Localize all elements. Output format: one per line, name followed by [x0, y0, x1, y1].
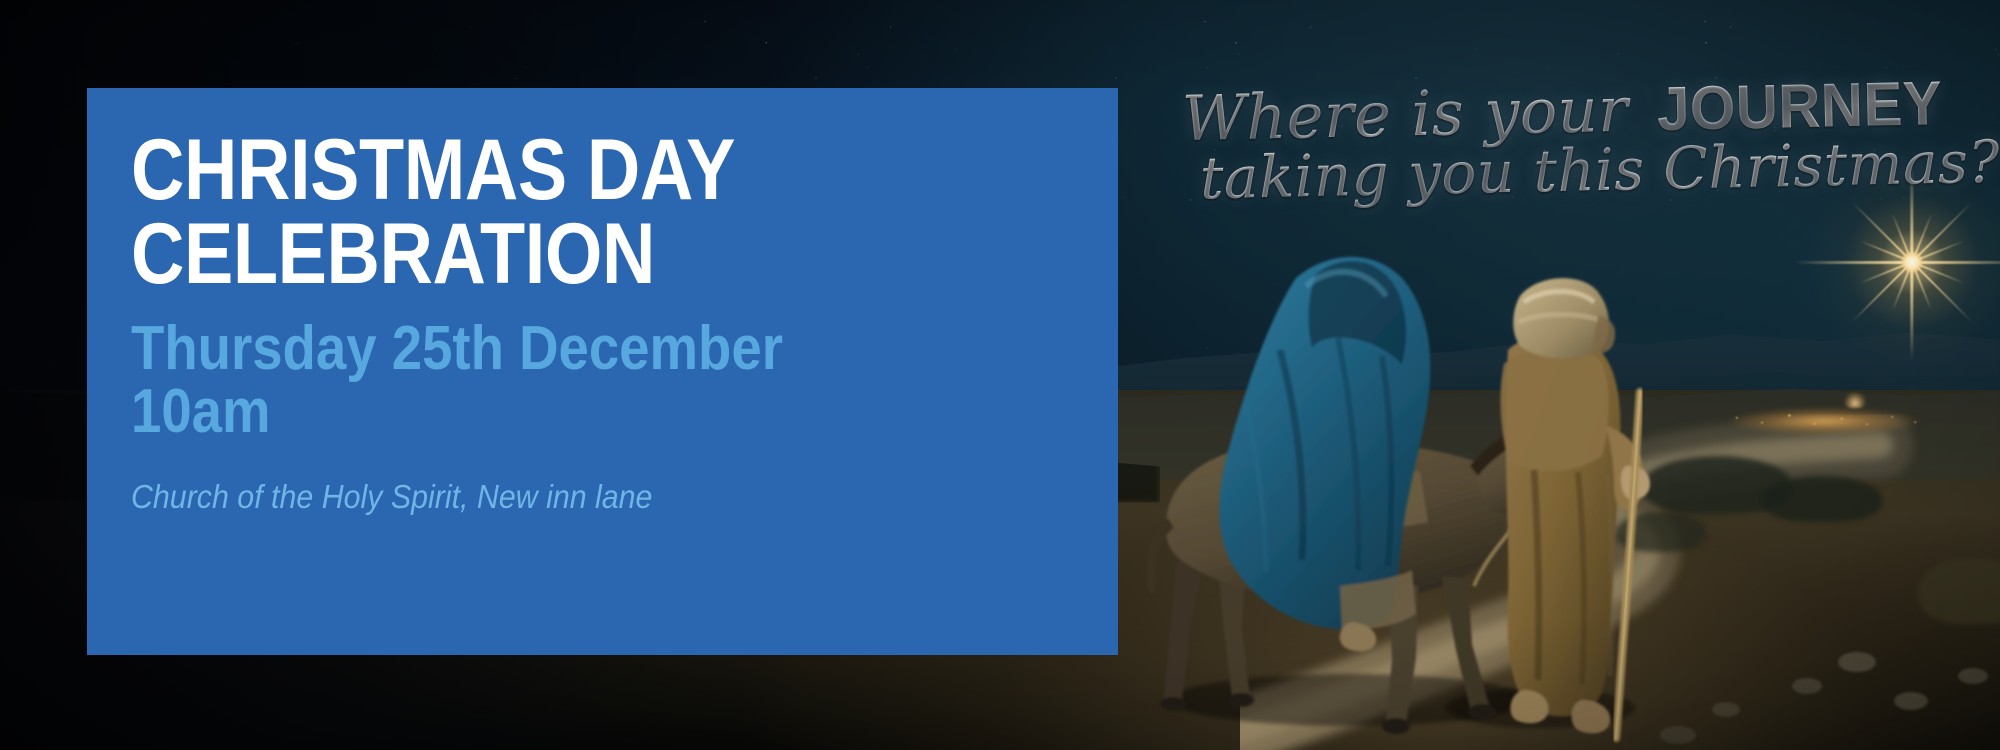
town-spire — [1844, 392, 1866, 409]
event-date-time: Thursday 25th December 10am — [131, 317, 1000, 443]
event-venue: Church of the Holy Spirit, New inn lane — [131, 477, 1039, 517]
stone — [1894, 692, 1928, 710]
town-lights — [1720, 409, 1930, 432]
stone — [1712, 702, 1740, 717]
joseph-figure — [1501, 278, 1650, 733]
stone — [1958, 668, 1988, 684]
mary-joseph-donkey-illustration — [1120, 230, 1680, 750]
stone — [1838, 652, 1876, 672]
mary-figure — [1220, 257, 1431, 652]
christmas-banner: CHRISTMAS DAY CELEBRATION Thursday 25th … — [0, 0, 2000, 750]
stone — [1792, 678, 1822, 694]
page-title: CHRISTMAS DAY CELEBRATION — [131, 128, 980, 297]
shrub — [1762, 476, 1882, 522]
joseph-cape — [1501, 346, 1609, 470]
event-info-panel: CHRISTMAS DAY CELEBRATION Thursday 25th … — [87, 88, 1118, 655]
